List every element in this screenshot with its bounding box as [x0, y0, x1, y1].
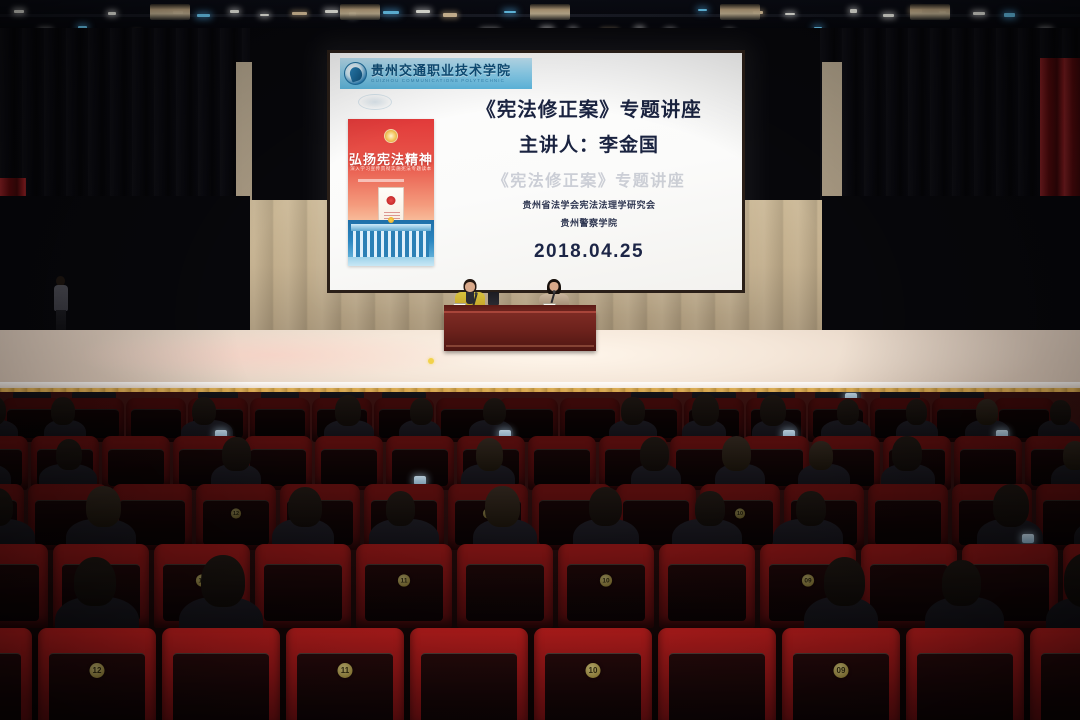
- stage-assistant: [52, 276, 70, 332]
- audience-seat[interactable]: [315, 436, 383, 490]
- seat-back-pad: [365, 564, 444, 621]
- stage-lamp: [698, 9, 706, 11]
- audience-head: [692, 394, 719, 426]
- school-name-english: GUIZHOU COMMUNICATIONS POLYTECHNIC: [371, 79, 511, 84]
- seat-number-badge: 09: [802, 574, 814, 586]
- audience-head: [386, 491, 415, 526]
- seat-number-badge: 11: [398, 574, 410, 586]
- seat-back-pad: [421, 653, 518, 720]
- stage-light-pool: [60, 330, 480, 380]
- stage-floor-marker: [428, 358, 434, 364]
- audience-head: [640, 437, 669, 471]
- seat-back-pad: [669, 653, 766, 720]
- audience-head: [760, 395, 786, 426]
- audience-seat[interactable]: [528, 436, 596, 490]
- audience-seat[interactable]: [868, 484, 948, 550]
- audience-seat[interactable]: 12: [38, 628, 156, 720]
- seat-back-pad: [534, 449, 590, 486]
- poster-subline: 深入学习宣传贯彻实施宪法专题读本: [348, 166, 434, 172]
- seat-back-pad: [466, 564, 545, 621]
- stage-lamp: [197, 14, 210, 17]
- audience-head: [695, 491, 724, 526]
- seat-number-badge: 09: [834, 663, 849, 678]
- stage-lamp: [973, 12, 985, 16]
- audience-head: [476, 438, 504, 471]
- seat-number-badge: 12: [90, 663, 105, 678]
- projection-screen: 贵州交通职业技术学院 GUIZHOU COMMUNICATIONS POLYTE…: [330, 53, 742, 290]
- audience-head: [942, 560, 981, 606]
- audience-seat[interactable]: 10: [558, 544, 654, 628]
- seat-back-pad: [203, 500, 269, 545]
- stage-lamp: [383, 11, 399, 14]
- audience-seat[interactable]: [659, 544, 755, 628]
- audience-head: [976, 399, 998, 425]
- stage-lamp: [14, 10, 25, 13]
- stage-lamp: [504, 11, 516, 13]
- audience-head: [192, 397, 216, 426]
- audience-seat[interactable]: [658, 628, 776, 720]
- audience-head: [621, 397, 645, 425]
- seat-number-badge: 10: [600, 574, 612, 586]
- audience-seat[interactable]: [0, 544, 48, 628]
- watermark-logo-icon: [358, 94, 392, 110]
- seat-back-pad: [173, 653, 270, 720]
- light-fixture: [910, 4, 950, 20]
- audience-head: [1063, 441, 1080, 470]
- stage-lamp: [325, 10, 339, 13]
- school-name: 贵州交通职业技术学院: [371, 64, 511, 77]
- audience-head: [809, 441, 833, 469]
- audience-head: [201, 555, 245, 607]
- seat-back-pad: [255, 409, 304, 439]
- audience-head: [410, 398, 433, 425]
- seat-back-pad: [917, 653, 1014, 720]
- seat-back-pad: [321, 449, 377, 486]
- school-emblem-icon: [344, 62, 367, 85]
- audience-seat[interactable]: 11: [356, 544, 452, 628]
- audience-head: [722, 436, 752, 471]
- audience-seat[interactable]: [162, 628, 280, 720]
- phone-screen-glow: [1022, 534, 1034, 543]
- stage-lamp: [108, 12, 116, 15]
- stage-lamp: [230, 10, 238, 14]
- audience-head: [824, 557, 866, 606]
- seat-back-pad: [131, 409, 180, 439]
- stage-lamp: [883, 14, 894, 17]
- audience-head: [837, 399, 859, 425]
- slide-ghost-title: 《宪法修正案》专题讲座: [442, 167, 736, 191]
- great-hall-icon: [348, 220, 434, 266]
- audience-head: [796, 491, 826, 526]
- audience-seat[interactable]: 10: [534, 628, 652, 720]
- audience-head: [288, 487, 322, 527]
- audience-seat[interactable]: [906, 628, 1024, 720]
- seat-back-pad: [1041, 653, 1080, 720]
- seat-back-pad: [264, 564, 343, 621]
- audience-head: [86, 486, 121, 527]
- wall-mask-left: [0, 196, 250, 332]
- audience-head: [483, 398, 506, 426]
- seat-number-badge: 10: [586, 663, 601, 678]
- stage-lamp: [785, 13, 795, 15]
- stage-lamp: [850, 9, 857, 13]
- poster-rule: [358, 179, 404, 182]
- audience-head: [335, 395, 361, 426]
- seat-back-pad: [960, 449, 1016, 486]
- light-fixture: [720, 4, 760, 20]
- slide-title: 《宪法修正案》专题讲座: [442, 93, 736, 122]
- wall-mask-right: [822, 196, 1080, 332]
- stage-lamp: [260, 14, 270, 16]
- audience-seating: 1211101211100912111009: [0, 392, 1080, 720]
- gold-seal-icon: [384, 129, 398, 143]
- head-table: [444, 311, 596, 351]
- seat-row: 12111009: [0, 628, 1080, 720]
- light-fixture: [340, 4, 380, 20]
- audience-head: [51, 397, 75, 425]
- seat-back-pad: [875, 500, 941, 545]
- seat-back-pad: [565, 409, 614, 439]
- auditorium-scene: 贵州交通职业技术学院 GUIZHOU COMMUNICATIONS POLYTE…: [0, 0, 1080, 720]
- audience-head: [906, 399, 928, 425]
- seat-number-badge: 11: [338, 663, 353, 678]
- slide-organizer-secondary: 贵州警察学院: [442, 216, 736, 229]
- audience-head: [56, 439, 82, 470]
- light-fixture: [150, 4, 190, 20]
- audience-seat[interactable]: [0, 628, 32, 720]
- audience-head: [1050, 400, 1071, 425]
- audience-seat[interactable]: 12: [196, 484, 276, 550]
- light-fixture: [530, 4, 570, 20]
- slide-date: 2018.04.25: [442, 241, 736, 263]
- slide-organizer-primary: 贵州省法学会宪法法理学研究会: [442, 198, 736, 211]
- seat-back-pad: [0, 564, 39, 621]
- audience-head: [222, 437, 250, 471]
- audience-head: [589, 487, 622, 526]
- audience-seat[interactable]: 09: [782, 628, 900, 720]
- audience-seat[interactable]: [410, 628, 528, 720]
- audience-seat[interactable]: [457, 544, 553, 628]
- stage-lamp: [416, 10, 430, 12]
- seat-back-pad: [567, 564, 646, 621]
- school-banner: 贵州交通职业技术学院 GUIZHOU COMMUNICATIONS POLYTE…: [340, 58, 532, 89]
- audience-seat[interactable]: [954, 436, 1022, 490]
- seat-back-pad: [0, 653, 21, 720]
- audience-head: [74, 557, 116, 607]
- constitution-poster: 弘扬宪法精神 深入学习宣传贯彻实施宪法专题读本: [348, 119, 434, 266]
- audience-seat[interactable]: 11: [286, 628, 404, 720]
- stage-lamp: [1004, 13, 1015, 16]
- audience-seat[interactable]: [255, 544, 351, 628]
- audience-head: [993, 484, 1030, 527]
- audience-seat[interactable]: [102, 436, 170, 490]
- slide-speaker-line: 主讲人：李金国: [442, 130, 736, 157]
- audience-seat[interactable]: [1030, 628, 1080, 720]
- stage-lamp: [443, 13, 456, 17]
- stage-lamp: [292, 12, 307, 15]
- laptop-icon: [488, 292, 499, 305]
- seat-back-pad: [108, 449, 164, 486]
- audience-head: [485, 486, 520, 527]
- seat-back-pad: [668, 564, 747, 621]
- audience-head: [892, 436, 921, 471]
